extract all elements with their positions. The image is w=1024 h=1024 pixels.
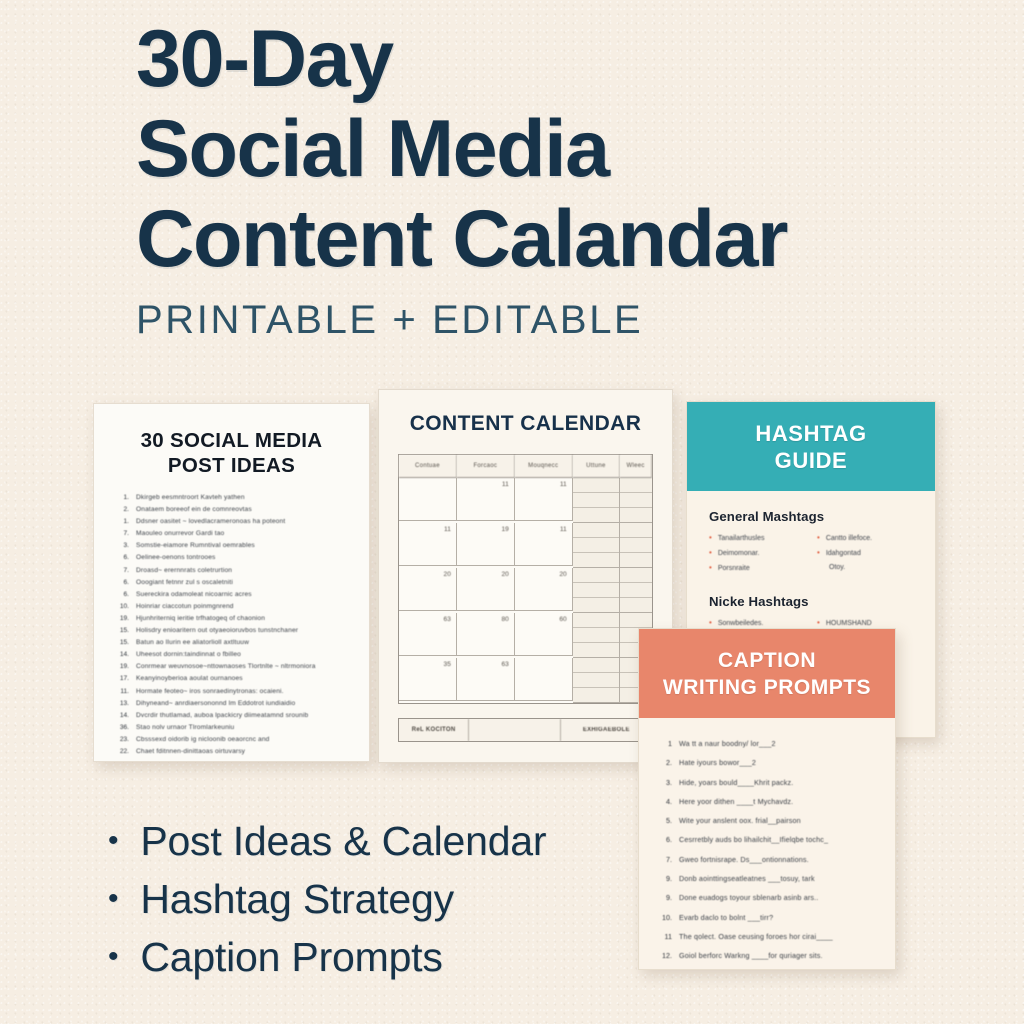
calendar-column-header: Forcaoc (457, 455, 515, 478)
calendar-footer-cell[interactable]: ReL KOCITON (399, 719, 469, 741)
calendar-day-cell[interactable]: 20 (457, 568, 515, 611)
hashtag-list-item: •Cantto illefoce. (817, 531, 913, 546)
calendar-day-number: 80 (501, 616, 508, 623)
list-item-number: 36. (112, 722, 129, 734)
list-item-text: Cbsssexd oidorib ig nicloonib oeaorcnc a… (136, 734, 270, 746)
list-item-text: Holisdry enioaritern out otyaeoioruvbos … (136, 625, 298, 637)
hashtag-list-item: •Porsnraite (709, 561, 805, 576)
caption-prompts-body: 1Wa tt a naur boodny/ lor___22.Hate iyou… (639, 718, 895, 966)
calendar-note-row[interactable] (620, 553, 652, 567)
hashtag-column-right: •Cantto illefoce.•IdahgontadOtoy. (817, 531, 913, 576)
list-item-text: Hide, yoars bould____Khrit packz. (679, 773, 793, 792)
list-item-number: 6. (659, 830, 672, 849)
calendar-day-number: 60 (559, 616, 566, 623)
bullet-dot-icon: • (108, 928, 118, 986)
card-content-calendar[interactable]: CONTENT CALENDAR ContuaeForcaocMouqneccU… (378, 389, 673, 763)
list-item-text: Done euadogs toyour sblenarb asinb ars.. (679, 888, 818, 907)
calendar-note-column[interactable] (620, 568, 652, 613)
list-item-text: Somstie-eiamore Rumntival oemrables (136, 540, 255, 552)
calendar-note-row[interactable] (573, 658, 619, 673)
list-item: 36.Stao nolv urnaor Tlromlarkeuniu (112, 722, 351, 734)
calendar-note-column[interactable] (620, 478, 652, 523)
calendar-note-column[interactable] (573, 523, 620, 568)
list-item-number: 10. (112, 601, 129, 613)
content-calendar-title: CONTENT CALENDAR (398, 412, 653, 436)
calendar-day-number: 35 (444, 661, 451, 668)
list-item-text: Stao nolv urnaor Tlromlarkeuniu (136, 722, 234, 734)
list-item-text: Hormate feoteo~ iros sonraedinytronas: o… (136, 686, 284, 698)
list-item-number: 2. (659, 753, 672, 772)
list-item-number: 6. (112, 589, 129, 601)
list-item: 19.Hjunhriterniq ieritie trfhatogeq of c… (112, 613, 351, 625)
list-item: 4.Here yoor dithen ____t Mychavdz. (659, 792, 879, 811)
list-item: 6.Suereckira odamoleat nicoarnic acres (112, 589, 351, 601)
calendar-note-row[interactable] (620, 478, 652, 493)
calendar-note-row[interactable] (573, 493, 619, 508)
list-item-text: Ooogiant fetnnr zul s oscaletniti (136, 577, 233, 589)
list-item-text: Wa tt a naur boodny/ lor___2 (679, 734, 776, 753)
calendar-note-column[interactable] (573, 478, 620, 523)
list-item-text: Maouleo onurrevor Gardi tao (136, 528, 224, 540)
page-title-line-3: Content Calandar (136, 194, 966, 284)
feature-item-label: Hashtag Strategy (140, 870, 454, 928)
calendar-day-number: 20 (501, 571, 508, 578)
list-item: 15.Holisdry enioaritern out otyaeoioruvb… (112, 625, 351, 637)
calendar-day-cell[interactable] (399, 478, 457, 521)
list-item-text: Donb aointtingseatleatnes ___tosuy, tark (679, 869, 815, 888)
calendar-column-header: Contuae (399, 455, 457, 478)
hashtag-item-text: Tanailarthusles (718, 532, 765, 546)
hashtag-two-column-list: •Tanailarthusles•Deimomonar.•Porsnraite•… (709, 531, 913, 576)
list-item-number: 15. (112, 625, 129, 637)
calendar-day-number: 63 (501, 661, 508, 668)
list-item-number: 9. (659, 869, 672, 888)
list-item: 3.Hide, yoars bould____Khrit packz. (659, 773, 879, 792)
calendar-note-row[interactable] (573, 613, 619, 628)
list-item-number: 11. (112, 686, 129, 698)
calendar-day-number: 11 (560, 481, 567, 488)
list-item: 7.Droasd~ erernnrats coletrurtion (112, 565, 351, 577)
list-item: 2.Onataem boreeof ein de comnreovtas (112, 504, 351, 516)
list-item-number: 3. (112, 540, 129, 552)
card-caption-prompts[interactable]: CAPTION WRITING PROMPTS 1Wa tt a naur bo… (638, 628, 896, 970)
list-item-text: Onataem boreeof ein de comnreovtas (136, 504, 252, 516)
bullet-dot-icon: • (709, 531, 712, 545)
calendar-note-row[interactable] (573, 538, 619, 553)
list-item: 7.Gweo fortnisrape. Ds___ontionnations. (659, 850, 879, 869)
list-item-number: 5. (659, 811, 672, 830)
list-item: 10.Evarb daclo to bolnt ___tirr? (659, 908, 879, 927)
list-item-number: 2. (112, 504, 129, 516)
hashtag-item-text: Idahgontad (826, 547, 861, 561)
feature-item-label: Caption Prompts (140, 928, 442, 986)
list-item-number: 10. (659, 908, 672, 927)
calendar-note-row[interactable] (573, 568, 619, 583)
list-item-number: 7. (112, 528, 129, 540)
hashtag-section-heading: General Mashtags (709, 509, 913, 524)
list-item-number: 4. (659, 792, 672, 811)
list-item: 6.Oelinee-oenons tontrooes (112, 552, 351, 564)
calendar-note-row[interactable] (573, 598, 619, 612)
calendar-day-cell[interactable]: 60 (515, 613, 573, 656)
list-item-number: 13. (112, 698, 129, 710)
bullet-dot-icon: • (817, 531, 820, 545)
hero-heading-block: 30-Day Social Media Content Calandar PRI… (136, 14, 966, 343)
bullet-dot-icon: • (108, 812, 118, 870)
list-item-text: Wite your anslent oox. frial__pairson (679, 811, 801, 830)
calendar-note-row[interactable] (620, 568, 652, 583)
calendar-note-row[interactable] (573, 688, 619, 702)
list-item-number: 7. (112, 565, 129, 577)
calendar-note-column[interactable] (573, 568, 620, 613)
list-item-text: Ddsner oasitet ~ lovedlacrameronoas ha p… (136, 516, 285, 528)
calendar-note-row[interactable] (620, 613, 652, 628)
calendar-day-number: 11 (444, 526, 451, 533)
calendar-footer-row: ReL KOCITONEXHIGAEBOLE (398, 718, 653, 742)
list-item-number: 6. (112, 577, 129, 589)
list-item-text: Dkirgeb eesmntroort Kavteh yathen (136, 492, 245, 504)
hashtag-list-item: •Idahgontad (817, 546, 913, 561)
list-item-number: 1. (112, 516, 129, 528)
list-item: 11.Hormate feoteo~ iros sonraedinytronas… (112, 686, 351, 698)
list-item: 6.Ooogiant fetnnr zul s oscaletniti (112, 577, 351, 589)
list-item-number: 1 (659, 734, 672, 753)
hashtag-item-text: Porsnraite (718, 562, 750, 576)
calendar-day-number: 20 (444, 571, 451, 578)
list-item-number: 1. (112, 492, 129, 504)
calendar-day-number: 20 (559, 571, 566, 578)
list-item: 12.Goiol berforc Warkng ____for quriager… (659, 946, 879, 965)
post-ideas-list: 1.Dkirgeb eesmntroort Kavteh yathen2.Ona… (112, 492, 351, 758)
calendar-day-cell[interactable]: 20 (515, 568, 573, 611)
list-item: 6.Cesrretbly auds bo lihailchit__Ifielqb… (659, 830, 879, 849)
list-item: 14.Uheesot dornin:taindinnat o fbilleo (112, 649, 351, 661)
list-item: 19.Conrmear weuvnosoe~nttownaoses Tlortn… (112, 661, 351, 673)
list-item-text: Chaet fditnnen-dinittaoas oirtuvarsy (136, 746, 245, 758)
list-item-text: Hoinriar ciaccotun poinmgnrend (136, 601, 234, 613)
post-ideas-title: 30 SOCIAL MEDIA POST IDEAS (112, 428, 351, 478)
calendar-note-row[interactable] (620, 493, 652, 508)
list-item: 11The qolect. Oase ceusing foroes hor ci… (659, 927, 879, 946)
list-item: 22.Chaet fditnnen-dinittaoas oirtuvarsy (112, 746, 351, 758)
list-item-text: The qolect. Oase ceusing foroes hor cira… (679, 927, 833, 946)
calendar-footer-cell[interactable] (469, 719, 560, 741)
calendar-note-row[interactable] (573, 628, 619, 643)
calendar-column-header: Wleec (620, 455, 652, 478)
calendar-day-cell[interactable]: 20 (399, 568, 457, 611)
list-item-number: 22. (112, 746, 129, 758)
list-item-number: 12. (659, 946, 672, 965)
list-item-number: 15. (112, 637, 129, 649)
calendar-note-row[interactable] (573, 478, 619, 493)
list-item-text: Cesrretbly auds bo lihailchit__Ifielqbe … (679, 830, 828, 849)
list-item-number: 17. (112, 673, 129, 685)
calendar-note-row[interactable] (573, 673, 619, 688)
list-item-text: Hjunhriterniq ieritie trfhatogeq of chao… (136, 613, 265, 625)
list-item: 15.Batun ao lIurin ee aliatorlioll axtlt… (112, 637, 351, 649)
list-item: 10.Hoinriar ciaccotun poinmgnrend (112, 601, 351, 613)
list-item-number: 7. (659, 850, 672, 869)
list-item: 17.Keanyinoyberioa aoulat ournanoes (112, 673, 351, 685)
calendar-day-number: 11 (502, 481, 509, 488)
calendar-note-row[interactable] (620, 508, 652, 522)
calendar-day-cell[interactable]: 11 (515, 478, 573, 521)
bullet-dot-icon: • (817, 546, 820, 560)
bullet-dot-icon: • (108, 870, 118, 928)
list-item-number: 9. (659, 888, 672, 907)
caption-prompts-title-line-2: WRITING PROMPTS (663, 674, 871, 701)
list-item-number: 14. (112, 710, 129, 722)
list-item: 9.Donb aointtingseatleatnes ___tosuy, ta… (659, 869, 879, 888)
calendar-day-number: 19 (501, 526, 508, 533)
calendar-day-cell[interactable]: 11 (399, 523, 457, 566)
calendar-grid: ContuaeForcaocMouqneccUttuneWleec1111111… (398, 454, 653, 704)
list-item: 1Wa tt a naur boodny/ lor___2 (659, 734, 879, 753)
list-item: 1.Dkirgeb eesmntroort Kavteh yathen (112, 492, 351, 504)
list-item-number: 11 (659, 927, 672, 946)
list-item-number: 6. (112, 552, 129, 564)
bullet-dot-icon: • (709, 546, 712, 560)
list-item-text: Droasd~ erernnrats coletrurtion (136, 565, 232, 577)
feature-item-label: Post Ideas & Calendar (140, 812, 546, 870)
calendar-day-number: 11 (560, 526, 567, 533)
list-item-text: Uheesot dornin:taindinnat o fbilleo (136, 649, 241, 661)
calendar-note-column[interactable] (573, 613, 620, 658)
feature-item: •Caption Prompts (108, 928, 546, 986)
calendar-column-header: Mouqnecc (515, 455, 573, 478)
list-item-number: 14. (112, 649, 129, 661)
calendar-note-row[interactable] (573, 523, 619, 538)
list-item: 1.Ddsner oasitet ~ lovedlacrameronoas ha… (112, 516, 351, 528)
list-item-text: Dvcrdir thutlamad, auboa lpackicry diime… (136, 710, 308, 722)
calendar-day-cell[interactable]: 35 (399, 658, 457, 701)
calendar-day-cell[interactable]: 11 (515, 523, 573, 566)
card-post-ideas[interactable]: 30 SOCIAL MEDIA POST IDEAS 1.Dkirgeb ees… (93, 403, 370, 762)
list-item-number: 19. (112, 613, 129, 625)
calendar-column-header: Uttune (573, 455, 620, 478)
list-item: 3.Somstie-eiamore Rumntival oemrables (112, 540, 351, 552)
list-item-text: Keanyinoyberioa aoulat ournanoes (136, 673, 243, 685)
list-item-number: 19. (112, 661, 129, 673)
calendar-note-row[interactable] (573, 508, 619, 522)
hashtag-list-item: •Tanailarthusles (709, 531, 805, 546)
feature-item: •Post Ideas & Calendar (108, 812, 546, 870)
hashtag-list-item: Otoy. (817, 561, 913, 575)
hashtag-item-text: Cantto illefoce. (826, 532, 872, 546)
list-item-text: Hate iyours bowor___2 (679, 753, 756, 772)
calendar-day-number: 63 (444, 616, 451, 623)
feature-item: •Hashtag Strategy (108, 870, 546, 928)
list-item: 14.Dvcrdir thutlamad, auboa lpackicry di… (112, 710, 351, 722)
list-item-number: 3. (659, 773, 672, 792)
list-item-text: Conrmear weuvnosoe~nttownaoses Tlortnlte… (136, 661, 316, 673)
list-item-text: Goiol berforc Warkng ____for quriager si… (679, 946, 823, 965)
calendar-day-cell[interactable]: 80 (457, 613, 515, 656)
list-item: 23.Cbsssexd oidorib ig nicloonib oeaorcn… (112, 734, 351, 746)
list-item: 9.Done euadogs toyour sblenarb asinb ars… (659, 888, 879, 907)
list-item-text: Here yoor dithen ____t Mychavdz. (679, 792, 793, 811)
list-item-text: Gweo fortnisrape. Ds___ontionnations. (679, 850, 809, 869)
list-item: 7.Maouleo onurrevor Gardi tao (112, 528, 351, 540)
hashtag-item-text: Otoy. (829, 561, 845, 575)
hashtag-guide-title-line-2: GUIDE (775, 447, 848, 474)
calendar-note-row[interactable] (573, 583, 619, 598)
bullet-dot-icon: • (709, 561, 712, 575)
page-title-line-2: Social Media (136, 104, 966, 194)
hashtag-section-heading: Nicke Hashtags (709, 594, 913, 609)
list-item-text: Dihyneand~ anrdiaersononnd lm Eddotrot i… (136, 698, 295, 710)
caption-prompts-header: CAPTION WRITING PROMPTS (639, 629, 895, 718)
calendar-day-cell[interactable]: 63 (457, 658, 515, 701)
list-item-text: Evarb daclo to bolnt ___tirr? (679, 908, 773, 927)
calendar-note-row[interactable] (620, 598, 652, 612)
calendar-day-cell[interactable]: 63 (399, 613, 457, 656)
calendar-note-row[interactable] (573, 553, 619, 567)
caption-prompts-title-line-1: CAPTION (718, 647, 816, 674)
hashtag-column-left: •Tanailarthusles•Deimomonar.•Porsnraite (709, 531, 805, 576)
calendar-day-cell[interactable]: 11 (457, 478, 515, 521)
calendar-note-row[interactable] (620, 538, 652, 553)
list-item-text: Oelinee-oenons tontrooes (136, 552, 215, 564)
feature-bullet-list: •Post Ideas & Calendar•Hashtag Strategy•… (108, 812, 546, 986)
list-item: 5.Wite your anslent oox. frial__pairson (659, 811, 879, 830)
calendar-day-cell[interactable] (515, 658, 573, 701)
hashtag-guide-title-line-1: HASHTAG (755, 420, 866, 447)
hashtag-item-text: Deimomonar. (718, 547, 760, 561)
list-item-text: Batun ao lIurin ee aliatorlioll axtltuuw (136, 637, 249, 649)
hashtag-guide-body: General Mashtags•Tanailarthusles•Deimomo… (687, 491, 935, 645)
calendar-note-column[interactable] (573, 658, 620, 703)
list-item: 2.Hate iyours bowor___2 (659, 753, 879, 772)
page-subtitle: PRINTABLE + EDITABLE (136, 298, 966, 343)
list-item: 13.Dihyneand~ anrdiaersononnd lm Eddotro… (112, 698, 351, 710)
page-title-line-1: 30-Day (136, 14, 966, 104)
list-item-number: 23. (112, 734, 129, 746)
hashtag-list-item: •Deimomonar. (709, 546, 805, 561)
calendar-note-row[interactable] (620, 583, 652, 598)
calendar-note-column[interactable] (620, 523, 652, 568)
calendar-day-cell[interactable]: 19 (457, 523, 515, 566)
hashtag-guide-header: HASHTAG GUIDE (687, 402, 935, 491)
calendar-note-row[interactable] (573, 643, 619, 657)
caption-prompts-list: 1Wa tt a naur boodny/ lor___22.Hate iyou… (659, 734, 879, 966)
calendar-note-row[interactable] (620, 523, 652, 538)
list-item-text: Suereckira odamoleat nicoarnic acres (136, 589, 252, 601)
